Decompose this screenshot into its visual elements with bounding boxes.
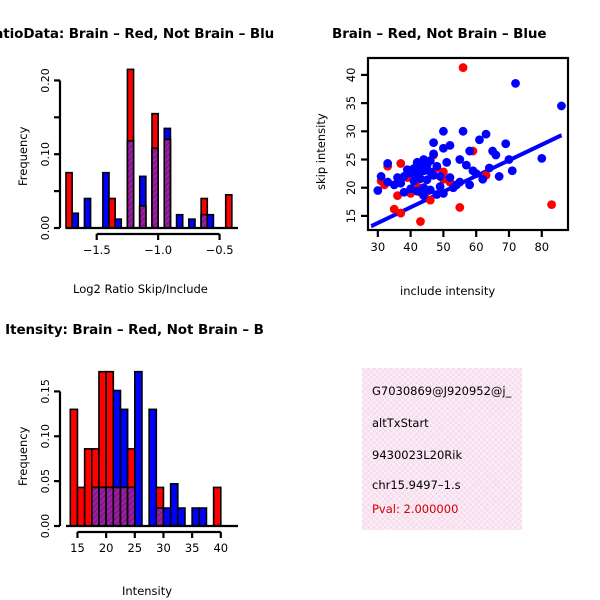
bar-not-brain — [189, 219, 195, 228]
y-tick-label: 0.10 — [39, 142, 52, 167]
info-line-probe: G7030869@J920952@j_ — [372, 384, 511, 398]
point-not-brain — [423, 175, 432, 184]
point-not-brain — [446, 173, 455, 182]
bar-not-brain — [149, 409, 156, 526]
y-tick-label: 15 — [344, 209, 358, 224]
x-tick-label: 60 — [469, 240, 484, 254]
point-not-brain — [557, 102, 566, 111]
y-tick-label: 0.20 — [39, 68, 52, 93]
scatter-plot: 152025303540304050607080 — [300, 0, 600, 300]
bar-overlap — [120, 487, 127, 526]
bar-brain — [214, 487, 221, 526]
bar-brain — [66, 173, 72, 228]
point-not-brain — [465, 180, 474, 189]
bar-brain — [109, 198, 115, 228]
info-line-event-type: altTxStart — [372, 416, 429, 430]
point-not-brain — [439, 189, 448, 198]
point-not-brain — [501, 139, 510, 148]
bar-overlap — [164, 139, 170, 228]
info-line-pval: Pval: 2.000000 — [372, 502, 458, 516]
x-tick-label: 30 — [371, 240, 386, 254]
point-not-brain — [465, 147, 474, 156]
y-tick-label: 30 — [344, 124, 358, 139]
point-not-brain — [488, 147, 497, 156]
point-brain — [459, 63, 468, 72]
bar-not-brain — [207, 215, 213, 228]
point-not-brain — [410, 177, 419, 186]
bar-not-brain — [115, 219, 121, 228]
y-tick-label: 0.10 — [39, 424, 52, 449]
bar-not-brain — [178, 508, 185, 526]
bar-not-brain — [135, 372, 142, 526]
point-not-brain — [459, 127, 468, 136]
ratio-histogram-plot: 0.000.100.20−1.5−1.0−0.5 — [0, 0, 300, 300]
info-box: G7030869@J920952@j_ altTxStart 9430023L2… — [362, 368, 522, 530]
point-not-brain — [429, 149, 438, 158]
x-tick-label: 40 — [213, 541, 228, 555]
x-tick-label: −1.0 — [144, 243, 172, 257]
bar-brain — [226, 195, 232, 228]
point-not-brain — [439, 127, 448, 136]
x-tick-label: 80 — [534, 240, 549, 254]
y-tick-label: 35 — [344, 96, 358, 111]
bar-overlap — [127, 141, 133, 228]
y-tick-label: 0.00 — [39, 514, 52, 539]
point-not-brain — [495, 172, 504, 181]
point-not-brain — [439, 144, 448, 153]
bar-overlap — [128, 487, 135, 526]
intensity-histogram-plot: 0.000.050.100.15152025303540 — [0, 300, 300, 600]
x-tick-label: 70 — [502, 240, 517, 254]
point-not-brain — [383, 159, 392, 168]
point-not-brain — [373, 186, 382, 195]
point-not-brain — [396, 179, 405, 188]
bar-brain — [85, 449, 92, 526]
panel-ratio-histogram: RatioData: Brain – Red, Not Brain – Blu … — [0, 0, 300, 300]
info-line-coordinate: chr15.9497–1.s — [372, 478, 461, 492]
point-brain — [416, 217, 425, 226]
x-tick-label: −0.5 — [206, 243, 234, 257]
bar-brain — [77, 487, 84, 526]
y-tick-label: 0.00 — [39, 216, 52, 241]
point-not-brain — [478, 175, 487, 184]
point-not-brain — [383, 178, 392, 187]
bar-not-brain — [199, 508, 206, 526]
panel-info: G7030869@J920952@j_ altTxStart 9430023L2… — [300, 300, 600, 600]
point-not-brain — [429, 138, 438, 147]
bar-overlap — [106, 487, 113, 526]
bar-not-brain — [103, 173, 109, 228]
point-brain — [390, 205, 399, 214]
info-line-gene: 9430023L20Rik — [372, 448, 462, 462]
x-tick-label: 15 — [70, 541, 85, 555]
bar-overlap — [152, 148, 158, 228]
point-not-brain — [442, 158, 451, 167]
y-tick-label: 20 — [344, 180, 358, 195]
y-tick-label: 40 — [344, 68, 358, 83]
bar-not-brain — [171, 484, 178, 526]
point-not-brain — [449, 183, 458, 192]
bar-overlap — [113, 487, 120, 526]
x-tick-label: 30 — [156, 541, 171, 555]
point-not-brain — [475, 135, 484, 144]
point-not-brain — [505, 155, 514, 164]
x-tick-label: −1.5 — [83, 243, 111, 257]
bar-overlap — [156, 508, 163, 526]
point-brain — [547, 200, 556, 209]
bar-not-brain — [163, 508, 170, 526]
panel-intensity-histogram: ne Itensity: Brain – Red, Not Brain – B … — [0, 300, 300, 600]
bar-not-brain — [177, 215, 183, 228]
point-not-brain — [419, 191, 428, 200]
plot-box — [368, 58, 568, 230]
point-not-brain — [508, 166, 517, 175]
point-not-brain — [436, 172, 445, 181]
panel-intensity-scatter: Brain – Red, Not Brain – Blue skip inten… — [300, 0, 600, 300]
x-tick-label: 20 — [99, 541, 114, 555]
point-brain — [396, 159, 405, 168]
x-tick-label: 25 — [127, 541, 142, 555]
bar-overlap — [201, 215, 207, 228]
bar-not-brain — [72, 213, 78, 228]
bar-overlap — [99, 487, 106, 526]
point-not-brain — [400, 188, 409, 197]
point-not-brain — [455, 155, 464, 164]
x-tick-label: 50 — [436, 240, 451, 254]
point-not-brain — [485, 164, 494, 173]
bar-overlap — [140, 206, 146, 228]
point-brain — [455, 203, 464, 212]
point-not-brain — [511, 79, 520, 88]
bar-not-brain — [192, 508, 199, 526]
bar-overlap — [92, 487, 99, 526]
y-tick-label: 25 — [344, 152, 358, 167]
y-tick-label: 0.05 — [39, 469, 52, 494]
point-not-brain — [537, 154, 546, 163]
bar-not-brain — [84, 198, 90, 228]
x-tick-label: 35 — [185, 541, 200, 555]
point-not-brain — [469, 166, 478, 175]
y-tick-label: 0.15 — [39, 379, 52, 404]
x-tick-label: 40 — [403, 240, 418, 254]
bar-brain — [70, 409, 77, 526]
